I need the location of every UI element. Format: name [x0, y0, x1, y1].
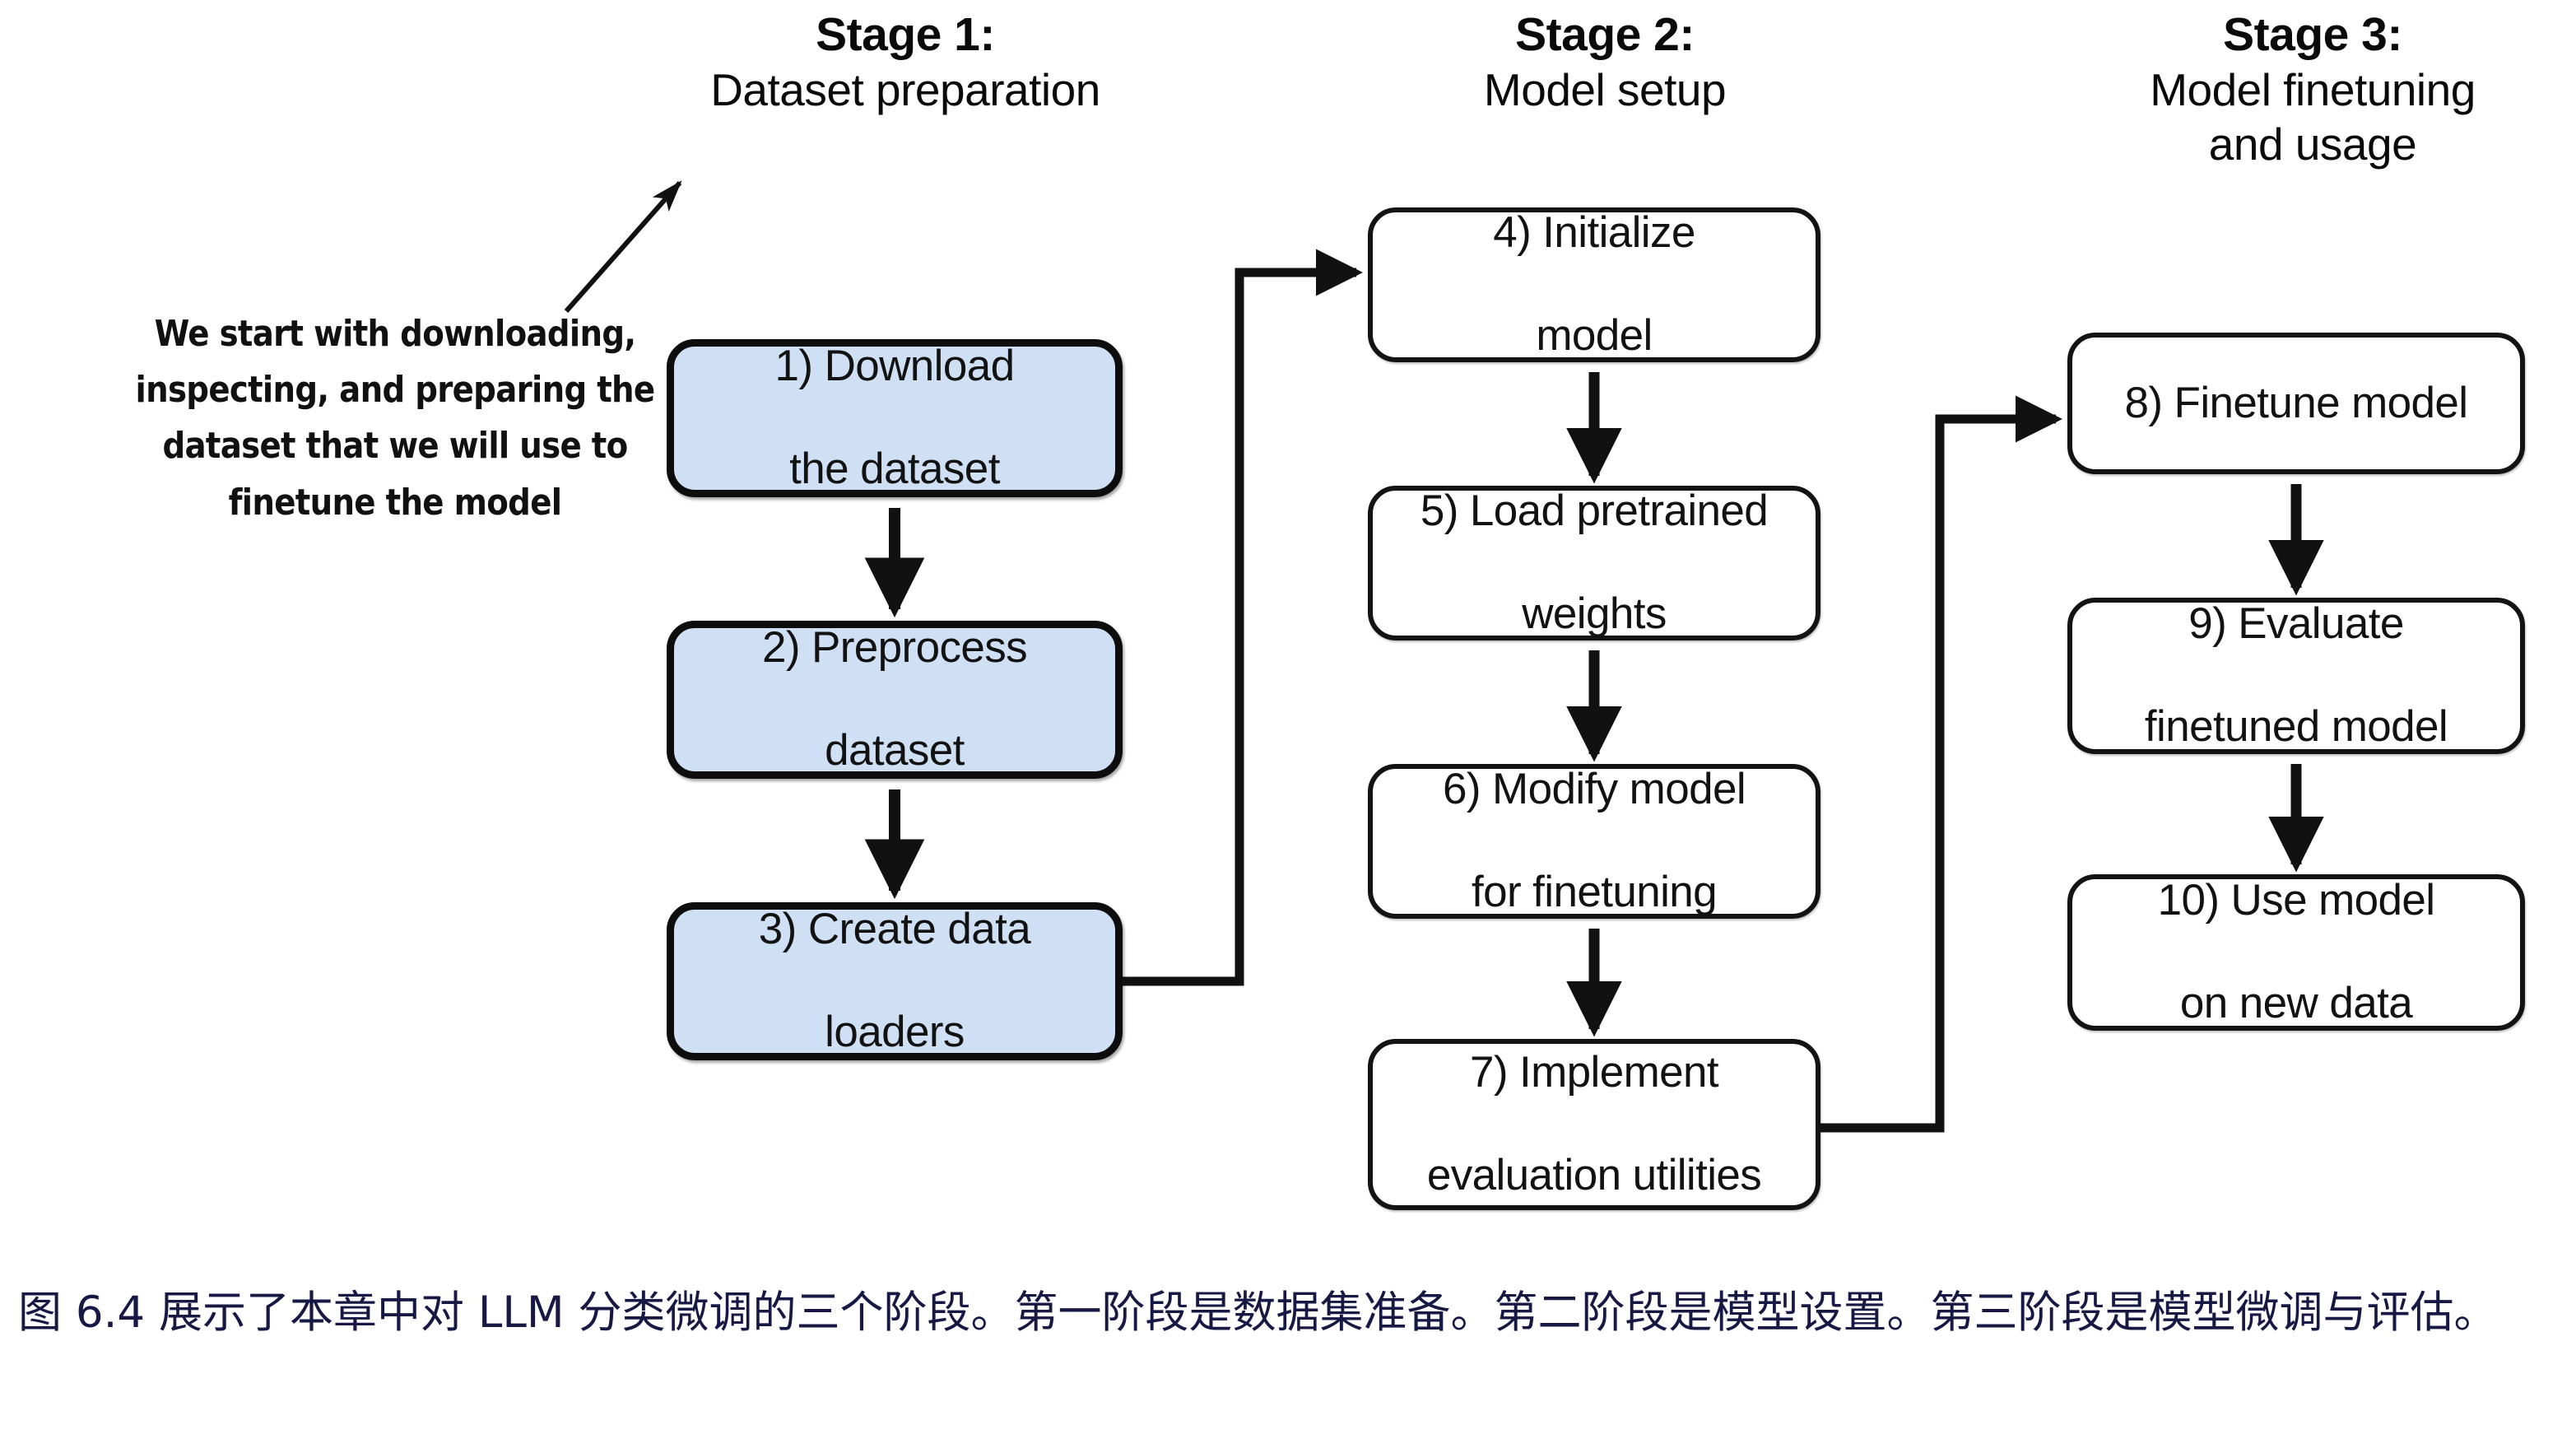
stage-2-title: Stage 2: [1325, 7, 1885, 63]
step-box-4-initialize-model[interactable]: 4) Initializemodel [1368, 207, 1820, 362]
step-box-3-create-data-loaders[interactable]: 3) Create dataloaders [667, 902, 1123, 1060]
step-box-9-evaluate-finetuned-model[interactable]: 9) Evaluatefinetuned model [2067, 598, 2525, 754]
arrow-box3-to-box4 [1123, 272, 1356, 981]
stage-3-subtitle: Model finetuningand usage [2041, 63, 2576, 171]
flowchart-diagram: Stage 1: Dataset preparation Stage 2: Mo… [0, 0, 2576, 1439]
step-box-8-label: 8) Finetune model [2102, 378, 2491, 430]
stage-3-header: Stage 3: Model finetuningand usage [2041, 7, 2576, 171]
stage-2-header: Stage 2: Model setup [1325, 7, 1885, 117]
step-box-10-use-model-on-new-data[interactable]: 10) Use modelon new data [2067, 874, 2525, 1031]
stage-2-subtitle: Model setup [1325, 63, 1885, 117]
stage-1-title: Stage 1: [543, 7, 1267, 63]
step-box-5-label: 5) Load pretrainedweights [1397, 486, 1791, 640]
step-box-1-download-dataset[interactable]: 1) Downloadthe dataset [667, 339, 1123, 497]
step-box-4-label: 4) Initializemodel [1470, 207, 1718, 362]
step-box-1-label: 1) Downloadthe dataset [752, 341, 1038, 496]
step-box-10-label: 10) Use modelon new data [2135, 875, 2458, 1030]
annotation-pointer-arrow [566, 183, 680, 311]
step-box-2-preprocess-dataset[interactable]: 2) Preprocessdataset [667, 621, 1123, 779]
step-box-7-implement-evaluation-utilities[interactable]: 7) Implementevaluation utilities [1368, 1039, 1820, 1210]
annotation-note: We start with downloading, inspecting, a… [127, 306, 663, 531]
step-box-6-modify-model-for-finetuning[interactable]: 6) Modify modelfor finetuning [1368, 764, 1820, 919]
arrow-box7-to-box8 [1820, 419, 2056, 1128]
step-box-5-load-pretrained-weights[interactable]: 5) Load pretrainedweights [1368, 486, 1820, 640]
step-box-2-label: 2) Preprocessdataset [739, 622, 1050, 777]
step-box-6-label: 6) Modify modelfor finetuning [1420, 764, 1769, 919]
stage-1-subtitle: Dataset preparation [543, 63, 1267, 117]
stage-3-title: Stage 3: [2041, 7, 2576, 63]
stage-1-header: Stage 1: Dataset preparation [543, 7, 1267, 117]
step-box-7-label: 7) Implementevaluation utilities [1404, 1047, 1784, 1202]
step-box-9-label: 9) Evaluatefinetuned model [2122, 598, 2471, 753]
step-box-8-finetune-model[interactable]: 8) Finetune model [2067, 333, 2525, 474]
step-box-3-label: 3) Create dataloaders [736, 904, 1053, 1059]
figure-caption: 图 6.4 展示了本章中对 LLM 分类微调的三个阶段。第一阶段是数据集准备。第… [18, 1281, 2561, 1344]
